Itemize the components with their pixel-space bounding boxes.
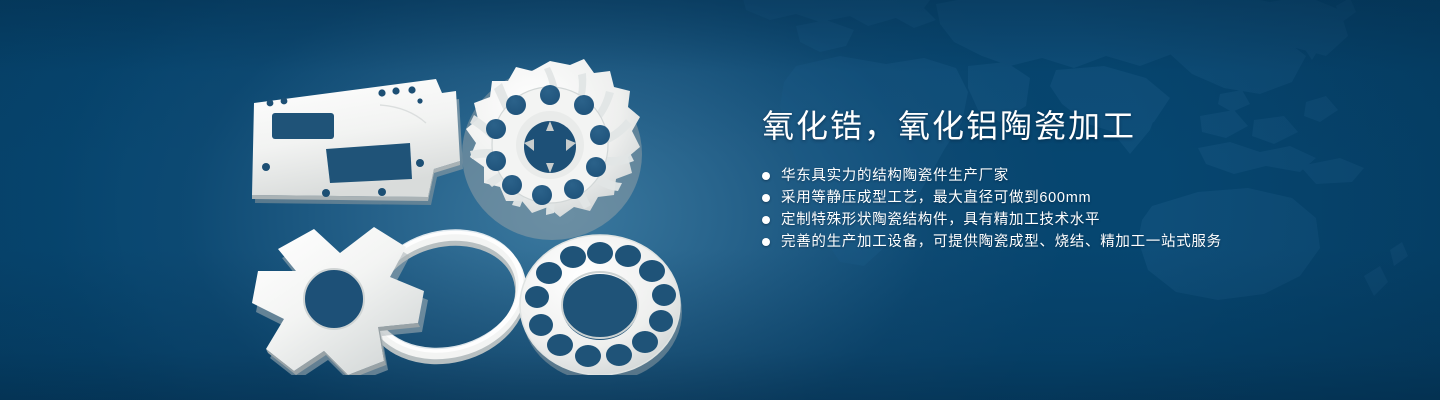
bullet-dot-icon xyxy=(762,238,770,246)
bullet-dot-icon xyxy=(762,172,770,180)
list-item: 定制特殊形状陶瓷结构件，具有精加工技术水平 xyxy=(762,209,1362,231)
list-item: 完善的生产加工设备，可提供陶瓷成型、烧结、精加工一站式服务 xyxy=(762,231,1362,253)
list-item: 采用等静压成型工艺，最大直径可做到600mm xyxy=(762,187,1362,209)
bullet-dot-icon xyxy=(762,194,770,202)
list-item: 华东具实力的结构陶瓷件生产厂家 xyxy=(762,165,1362,187)
feature-text: 华东具实力的结构陶瓷件生产厂家 xyxy=(781,165,1009,187)
ceramic-products-banner: 氧化锆，氧化铝陶瓷加工 华东具实力的结构陶瓷件生产厂家 采用等静压成型工艺，最大… xyxy=(0,0,1440,400)
ceramic-impeller-part xyxy=(462,59,642,240)
bullet-dot-icon xyxy=(762,216,770,224)
feature-text: 完善的生产加工设备，可提供陶瓷成型、烧结、精加工一站式服务 xyxy=(781,231,1222,253)
banner-headline: 氧化锆，氧化铝陶瓷加工 xyxy=(762,106,1362,146)
ceramic-plate-part xyxy=(252,79,463,205)
ceramic-product-photos xyxy=(230,45,720,375)
banner-copy: 氧化锆，氧化铝陶瓷加工 华东具实力的结构陶瓷件生产厂家 采用等静压成型工艺，最大… xyxy=(762,106,1362,269)
feature-text: 定制特殊形状陶瓷结构件，具有精加工技术水平 xyxy=(781,209,1100,231)
feature-list: 华东具实力的结构陶瓷件生产厂家 采用等静压成型工艺，最大直径可做到600mm 定… xyxy=(762,165,1362,253)
ceramic-perforated-disc-part xyxy=(520,235,682,375)
feature-text: 采用等静压成型工艺，最大直径可做到600mm xyxy=(781,187,1091,209)
